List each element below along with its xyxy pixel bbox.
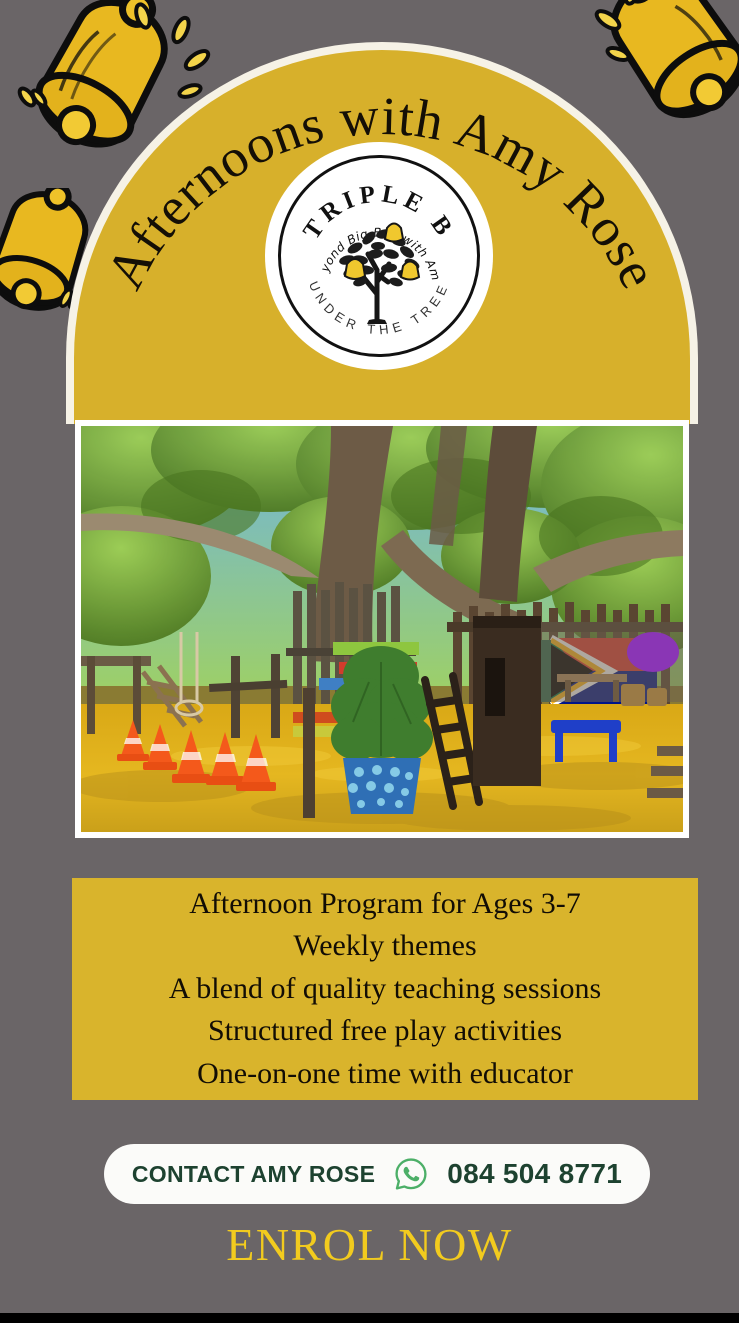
info-line: Afternoon Program for Ages 3-7 bbox=[189, 883, 581, 926]
info-line: Structured free play activities bbox=[208, 1010, 562, 1053]
whatsapp-icon[interactable] bbox=[393, 1156, 429, 1192]
contact-bar[interactable]: CONTACT AMY ROSE 084 504 8771 bbox=[104, 1144, 650, 1204]
enrol-now-cta[interactable]: ENROL NOW bbox=[0, 1218, 739, 1271]
contact-phone-number[interactable]: 084 504 8771 bbox=[447, 1158, 622, 1190]
playground-photo bbox=[81, 426, 683, 832]
poster-canvas: Afternoons with Amy Rose TRIPLE B Beyond… bbox=[0, 0, 739, 1323]
program-info-box: Afternoon Program for Ages 3-7 Weekly th… bbox=[72, 878, 698, 1100]
logo-bell-2 bbox=[345, 259, 365, 279]
info-line: One-on-one time with educator bbox=[197, 1053, 573, 1096]
info-line: Weekly themes bbox=[293, 925, 476, 968]
logo-emblem: TRIPLE B Beyond Big Bell with Amy UNDER … bbox=[265, 142, 493, 370]
contact-label: CONTACT AMY ROSE bbox=[132, 1161, 375, 1188]
logo-bell-3 bbox=[401, 262, 419, 280]
logo-bell-1 bbox=[385, 224, 403, 242]
info-line: A blend of quality teaching sessions bbox=[169, 968, 601, 1011]
photo-frame bbox=[75, 420, 689, 838]
logo-badge: TRIPLE B Beyond Big Bell with Amy UNDER … bbox=[265, 142, 493, 370]
bottom-bar bbox=[0, 1313, 739, 1323]
